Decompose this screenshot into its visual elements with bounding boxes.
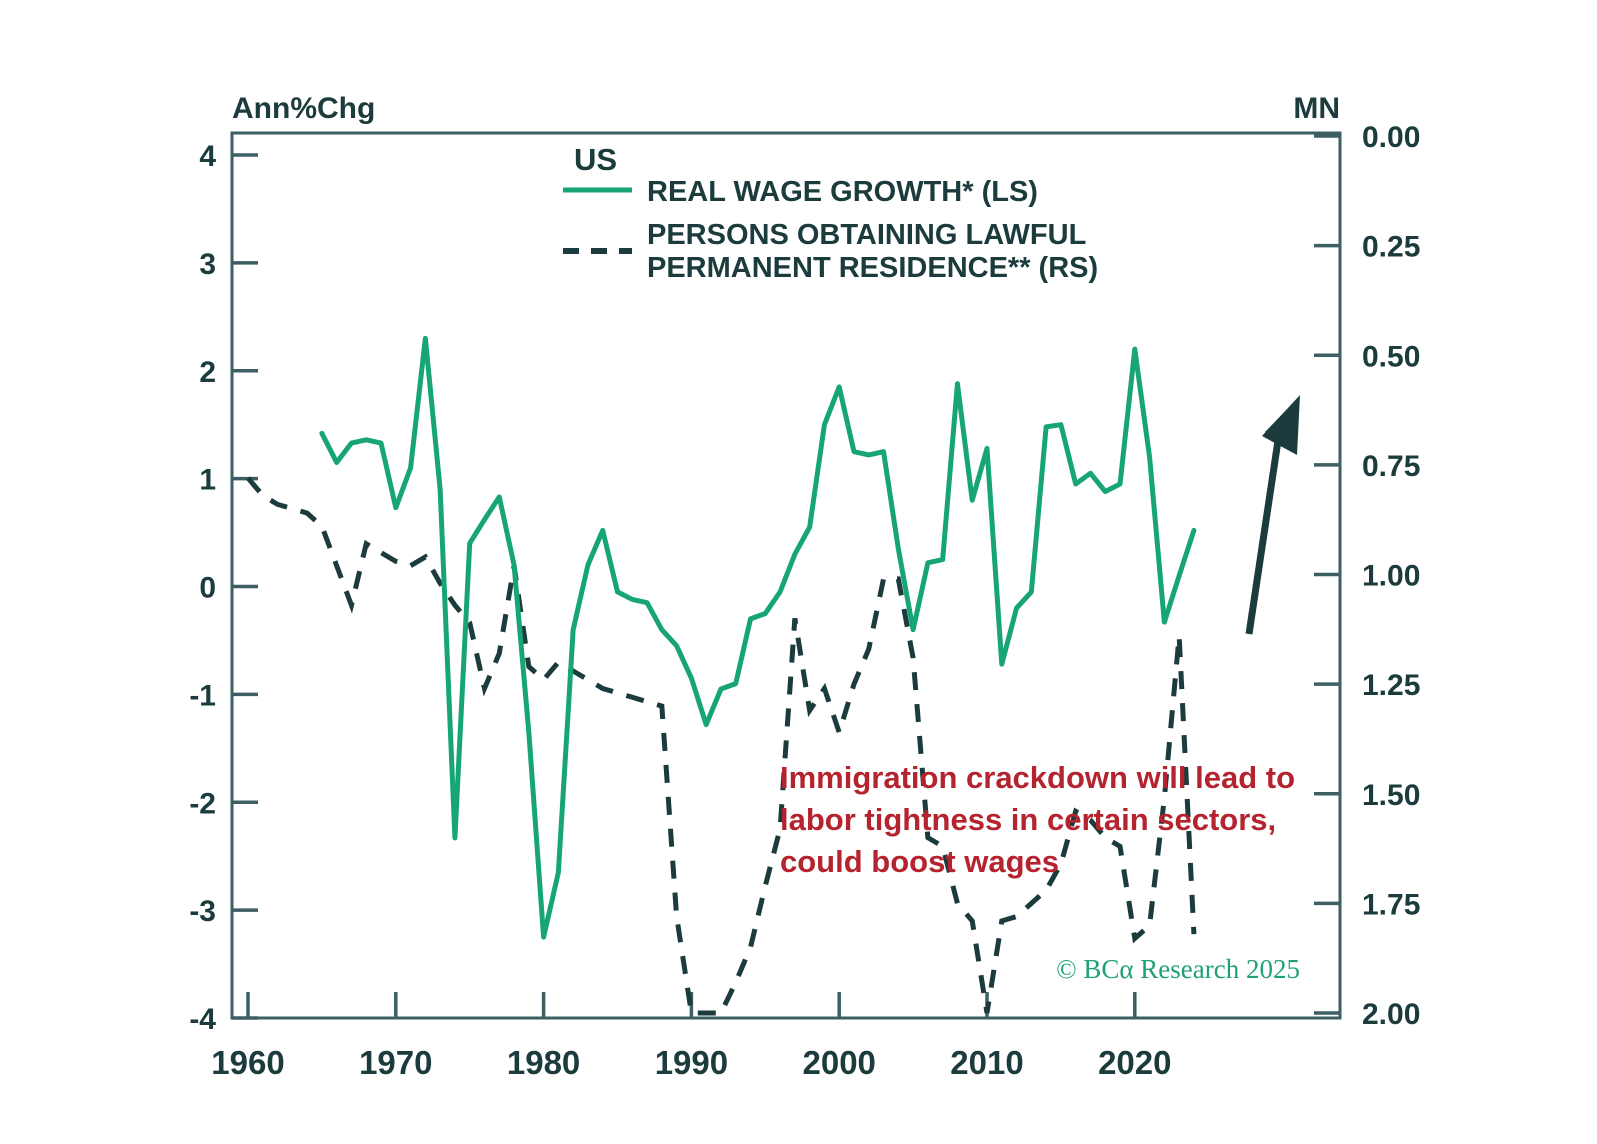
right-tick-label-5: 1.25 bbox=[1362, 669, 1420, 702]
left-axis-unit-label: Ann%Chg bbox=[232, 92, 375, 125]
legend-item-permanent-residence-line2: PERMANENT RESIDENCE** (RS) bbox=[647, 252, 1098, 284]
right-tick-label-0: 0.00 bbox=[1362, 121, 1420, 154]
annotation-line-2: labor tightness in certain sectors, bbox=[780, 802, 1276, 837]
left-tick-label-1: 3 bbox=[199, 248, 216, 281]
annotation-line-3: could boost wages bbox=[780, 844, 1059, 879]
chart-legend: US REAL WAGE GROWTH* (LS) PERSONS OBTAIN… bbox=[563, 142, 1098, 284]
right-tick-label-4: 1.00 bbox=[1362, 560, 1420, 593]
left-tick-label-0: 4 bbox=[199, 140, 216, 173]
x-axis-tick-labels: 1960197019801990200020102020 bbox=[211, 1044, 1171, 1081]
right-axis-unit-label: MN bbox=[1293, 92, 1340, 125]
left-axis-ticks bbox=[232, 155, 258, 1018]
series-persons-obtaining-lawful-permanent-residence bbox=[248, 478, 1194, 1013]
right-tick-label-2: 0.50 bbox=[1362, 340, 1420, 373]
chart-container: 43210-1-2-3-4 0.000.250.500.751.001.251.… bbox=[0, 0, 1597, 1144]
left-tick-label-8: -4 bbox=[189, 1003, 216, 1036]
right-axis-ticks bbox=[1314, 136, 1340, 1013]
x-tick-label-4: 2000 bbox=[802, 1044, 875, 1081]
left-tick-label-7: -3 bbox=[189, 895, 216, 928]
left-tick-label-3: 1 bbox=[199, 464, 216, 497]
right-tick-label-8: 2.00 bbox=[1362, 998, 1420, 1031]
x-tick-label-0: 1960 bbox=[211, 1044, 284, 1081]
right-tick-label-1: 0.25 bbox=[1362, 231, 1420, 264]
x-tick-label-2: 1980 bbox=[507, 1044, 580, 1081]
left-tick-label-5: -1 bbox=[189, 679, 216, 712]
up-right-trend-arrow bbox=[1249, 395, 1300, 634]
chart-annotation: Immigration crackdown will lead to labor… bbox=[780, 760, 1295, 879]
x-tick-label-5: 2010 bbox=[950, 1044, 1023, 1081]
x-tick-label-1: 1970 bbox=[359, 1044, 432, 1081]
dual-axis-line-chart: 43210-1-2-3-4 0.000.250.500.751.001.251.… bbox=[0, 0, 1597, 1144]
copyright-label: © BCα Research 2025 bbox=[1056, 954, 1300, 984]
left-tick-label-2: 2 bbox=[199, 356, 216, 389]
left-tick-label-4: 0 bbox=[199, 572, 216, 605]
legend-item-real-wage-growth: REAL WAGE GROWTH* (LS) bbox=[647, 176, 1038, 208]
annotation-line-1: Immigration crackdown will lead to bbox=[780, 760, 1295, 795]
left-tick-label-6: -2 bbox=[189, 787, 216, 820]
left-axis-tick-labels: 43210-1-2-3-4 bbox=[189, 140, 216, 1036]
right-axis-tick-labels: 0.000.250.500.751.001.251.501.752.00 bbox=[1362, 121, 1420, 1031]
x-tick-label-3: 1990 bbox=[655, 1044, 728, 1081]
legend-country-label: US bbox=[574, 142, 617, 177]
legend-item-permanent-residence-line1: PERSONS OBTAINING LAWFUL bbox=[647, 219, 1086, 251]
right-tick-label-6: 1.50 bbox=[1362, 779, 1420, 812]
right-tick-label-7: 1.75 bbox=[1362, 888, 1420, 921]
right-tick-label-3: 0.75 bbox=[1362, 450, 1420, 483]
x-tick-label-6: 2020 bbox=[1098, 1044, 1171, 1081]
